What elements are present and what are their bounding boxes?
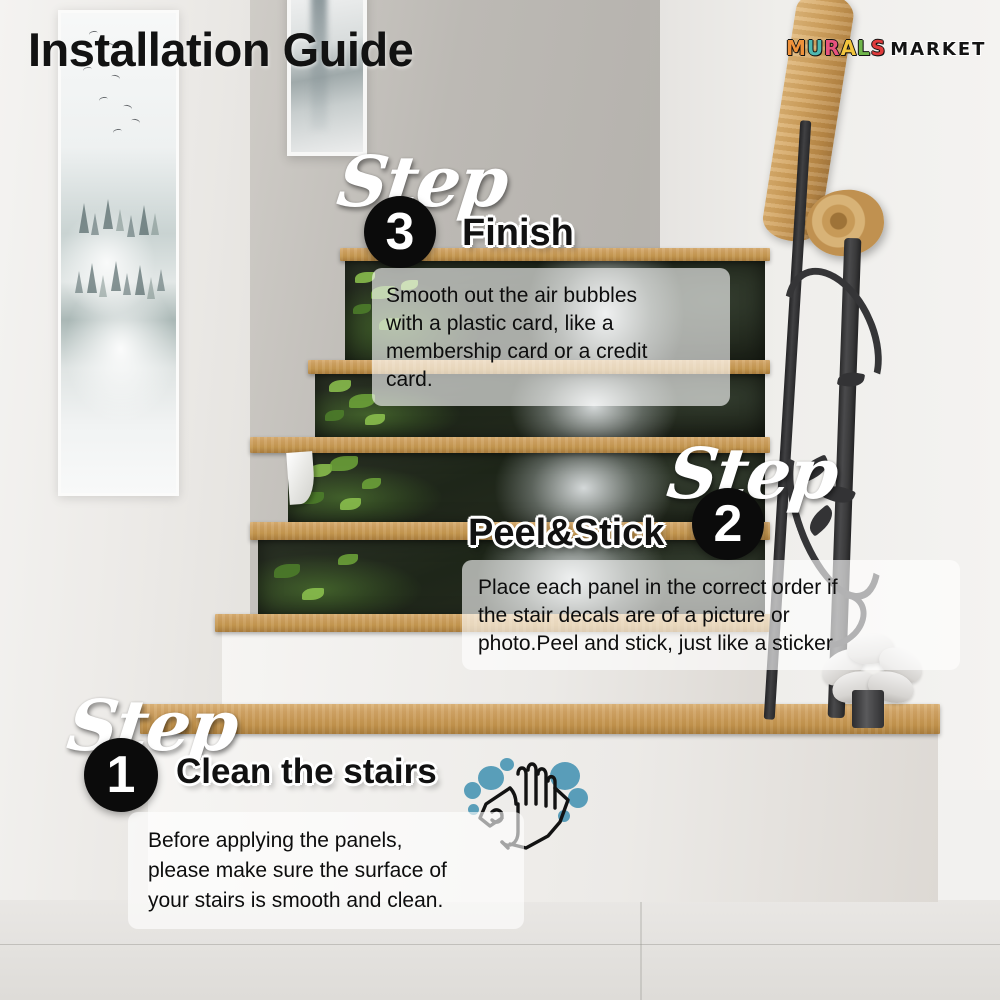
step-1-body-line: Before applying the panels,	[148, 826, 508, 856]
step-3-body-line: with a plastic card, like a	[386, 310, 718, 338]
logo-letter: A	[841, 36, 857, 60]
step-2-body-line: the stair decals are of a picture or	[478, 602, 946, 630]
step-2-body-line: Place each panel in the correct order if	[478, 574, 946, 602]
step-2-number: 2	[692, 488, 764, 560]
installation-guide-infographic: Installation Guide MURALS MARKET Step 3 …	[0, 0, 1000, 1000]
logo-letter: S	[871, 36, 886, 60]
step-3-heading: Finish	[462, 212, 574, 255]
logo-murals-word: MURALS	[786, 36, 886, 60]
stair-tread	[140, 704, 940, 734]
step-3-body-line: card.	[386, 366, 718, 394]
floor-seam	[0, 944, 1000, 945]
step-3-number: 3	[364, 196, 436, 268]
step-1-number: 1	[84, 738, 158, 812]
step-2-body: Place each panel in the correct order if…	[462, 560, 960, 670]
newel-base-collar	[852, 690, 884, 728]
logo-letter: M	[786, 36, 807, 60]
page-title: Installation Guide	[28, 22, 413, 77]
step-1-body-line: your stairs is smooth and clean.	[148, 886, 508, 916]
logo-market-word: MARKET	[890, 39, 986, 60]
step-3-body-line: membership card or a credit	[386, 338, 718, 366]
wall-art-misty-forest	[58, 10, 179, 496]
logo-letter: R	[824, 36, 840, 60]
step-1-body: Before applying the panels, please make …	[128, 812, 524, 929]
logo-letter: L	[857, 36, 871, 60]
step-1-heading: Clean the stairs	[176, 752, 437, 792]
step-1-body-line: please make sure the surface of	[148, 856, 508, 886]
step-3-body: Smooth out the air bubbles with a plasti…	[372, 268, 730, 406]
stair-tread	[250, 437, 770, 453]
step-2-heading: Peel&Stick	[468, 512, 664, 555]
floor-seam	[640, 900, 642, 1000]
step-2-body-line: photo.Peel and stick, just like a sticke…	[478, 630, 946, 658]
brand-logo[interactable]: MURALS MARKET	[786, 36, 986, 60]
step-3-body-line: Smooth out the air bubbles	[386, 282, 718, 310]
logo-letter: U	[807, 36, 824, 60]
